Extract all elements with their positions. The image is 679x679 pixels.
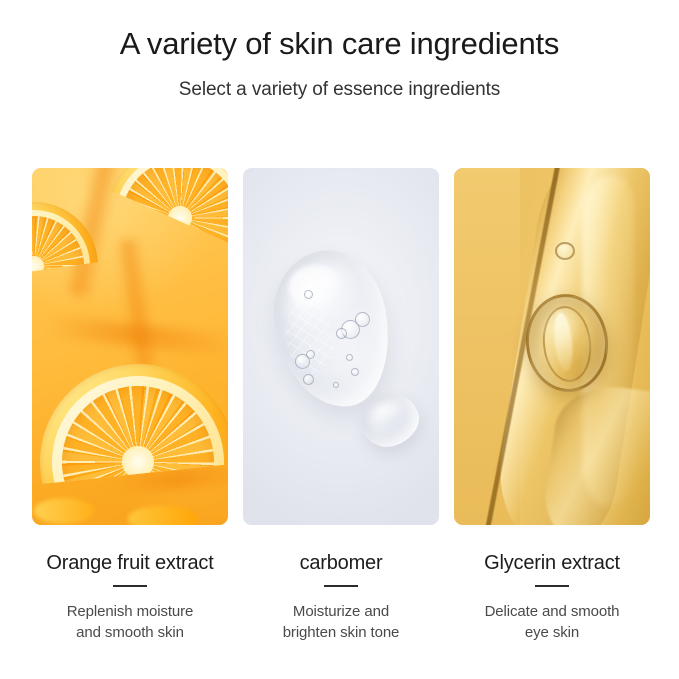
orange-juice-background <box>32 168 228 525</box>
ingredient-title: carbomer <box>243 552 439 574</box>
gel-bubble-icon <box>346 354 353 361</box>
ingredient-description-line2: brighten skin tone <box>283 624 400 641</box>
caption-divider <box>324 585 358 587</box>
page-subtitle: Select a variety of essence ingredients <box>0 79 679 101</box>
page-header: A variety of skin care ingredients Selec… <box>0 0 679 101</box>
caption-divider <box>535 585 569 587</box>
gel-bubble-icon <box>336 328 347 339</box>
gel-bubble-icon <box>306 350 315 359</box>
ingredient-description-line1: Replenish moisture <box>67 603 194 620</box>
ingredient-description: Delicate and smooth eye skin <box>454 601 650 644</box>
ingredient-caption: carbomer Moisturize and brighten skin to… <box>243 525 439 644</box>
juice-highlight-icon <box>34 498 94 524</box>
caption-divider <box>113 585 147 587</box>
clear-gel-droplet-image <box>243 168 439 525</box>
juice-highlight-icon <box>128 506 198 525</box>
oil-background <box>454 168 650 525</box>
page-title: A variety of skin care ingredients <box>0 26 679 62</box>
ingredient-description-line2: eye skin <box>525 624 579 641</box>
ingredient-description: Moisturize and brighten skin tone <box>243 601 439 644</box>
golden-oil-bubble-image <box>454 168 650 525</box>
ingredient-caption: Glycerin extract Delicate and smooth eye… <box>454 525 650 644</box>
ingredient-caption: Orange fruit extract Replenish moisture … <box>32 525 228 644</box>
gel-bubble-icon <box>333 382 339 388</box>
ingredient-description: Replenish moisture and smooth skin <box>32 601 228 644</box>
ingredient-card-orange[interactable]: Orange fruit extract Replenish moisture … <box>32 168 228 644</box>
ingredient-title: Glycerin extract <box>454 552 650 574</box>
gel-droplet-large <box>263 241 401 416</box>
orange-slices-in-juice-image <box>32 168 228 525</box>
gel-bubble-icon <box>351 368 359 376</box>
ingredient-description-line1: Moisturize and <box>293 603 389 620</box>
oil-bubble-small-icon <box>555 242 575 260</box>
ingredient-cards-row: Orange fruit extract Replenish moisture … <box>32 168 650 644</box>
ingredient-title: Orange fruit extract <box>32 552 228 574</box>
juice-streak-icon <box>115 238 159 370</box>
ingredient-card-carbomer[interactable]: carbomer Moisturize and brighten skin to… <box>243 168 439 644</box>
gel-background <box>243 168 439 525</box>
gel-bubble-icon <box>303 374 314 385</box>
gel-bubble-icon <box>304 290 313 299</box>
ingredient-description-line2: and smooth skin <box>76 624 184 641</box>
ingredient-card-glycerin[interactable]: Glycerin extract Delicate and smooth eye… <box>454 168 650 644</box>
ingredient-description-line1: Delicate and smooth <box>485 603 620 620</box>
gel-bubble-icon <box>355 312 370 327</box>
